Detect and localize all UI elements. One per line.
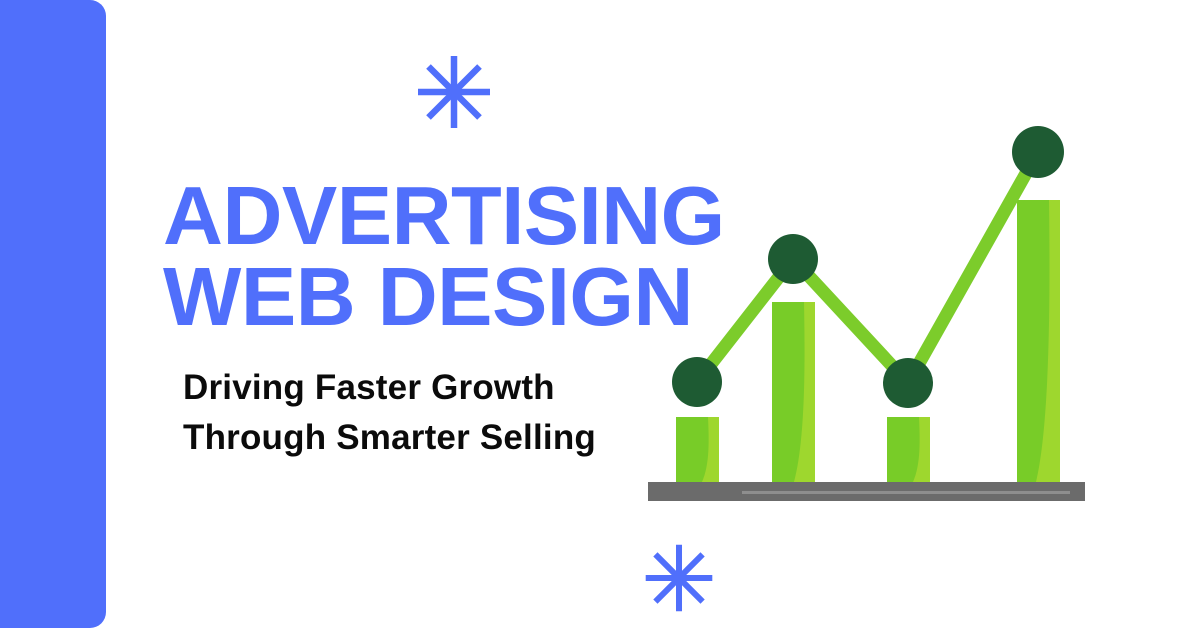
sparkle-asterisk-icon xyxy=(642,541,716,620)
chart-trend-line xyxy=(697,152,1038,383)
chart-marker-4 xyxy=(1012,126,1064,178)
chart-marker-3 xyxy=(883,358,933,408)
chart-marker-2 xyxy=(768,234,818,284)
sparkle-asterisk-icon xyxy=(414,52,494,137)
chart-base-platform xyxy=(648,482,1085,501)
bar-chart-illustration xyxy=(630,108,1100,508)
chart-marker-1 xyxy=(672,357,722,407)
bar-3 xyxy=(887,417,930,482)
chart-markers xyxy=(672,126,1064,408)
left-accent-bar xyxy=(0,0,106,628)
bar-1 xyxy=(676,417,719,482)
banner-canvas: ADVERTISING WEB DESIGN Driving Faster Gr… xyxy=(0,0,1200,628)
bar-2 xyxy=(772,302,815,482)
bar-4 xyxy=(1017,200,1060,482)
